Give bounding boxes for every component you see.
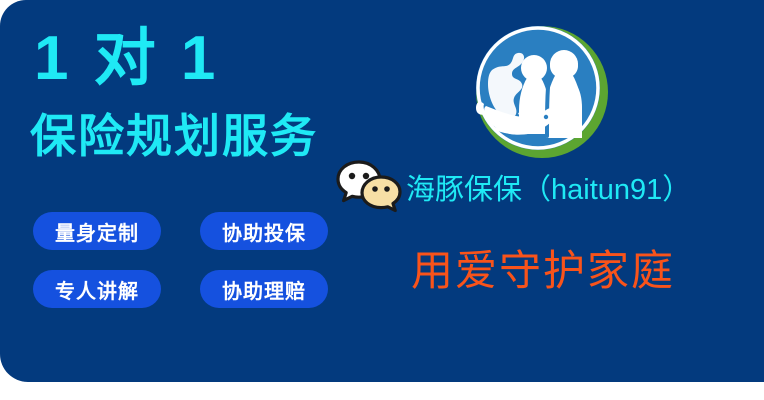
globe-family-dolphin-logo [472,22,612,162]
pill-expert-explain[interactable]: 专人讲解 [33,270,161,308]
tagline-text: 用爱守护家庭 [411,250,675,292]
wechat-contact-row[interactable]: 海豚保保（haitun91） [336,155,691,219]
pill-custom-plan[interactable]: 量身定制 [33,212,161,250]
brand-logo [472,22,612,162]
headline-secondary: 保险规划服务 [30,113,318,159]
wechat-id-text: 海豚保保（haitun91） [406,166,691,208]
insurance-promo-poster: 1 对 1 保险规划服务 量身定制 协助投保 专人讲解 协助理赔 [0,0,764,400]
pill-assist-apply[interactable]: 协助投保 [200,212,328,250]
headline-primary: 1 对 1 [34,28,219,90]
wechat-icon [336,158,402,216]
pill-assist-claim[interactable]: 协助理赔 [200,270,328,308]
